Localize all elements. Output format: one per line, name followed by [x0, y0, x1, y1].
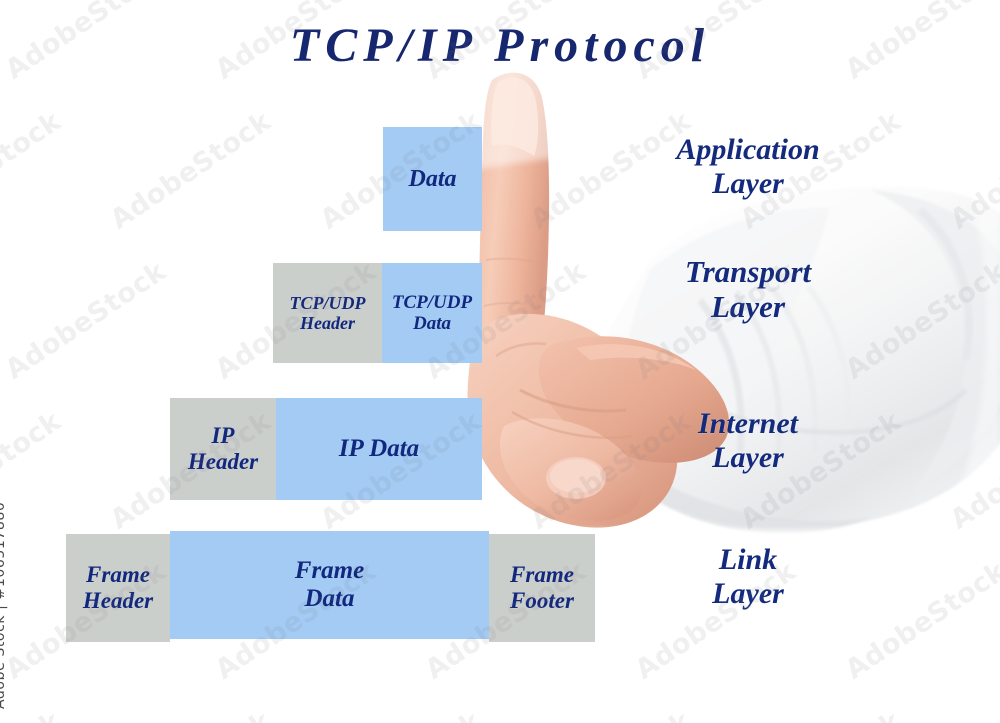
- block-tcp-udp-header: TCP/UDP Header: [273, 263, 382, 363]
- block-label: IP Header: [188, 423, 258, 475]
- tcpip-protocol-diagram: TCP/IP Protocol DataTCP/UDP HeaderTCP/UD…: [0, 0, 1000, 723]
- page-title: TCP/IP Protocol: [0, 18, 1000, 73]
- watermark-text: AdobeStock: [315, 706, 487, 723]
- watermark-text: AdobeStock: [105, 706, 277, 723]
- block-frame-footer: Frame Footer: [489, 534, 595, 642]
- layer-label-application-layer: Application Layer: [618, 133, 878, 200]
- block-label: TCP/UDP Header: [290, 293, 366, 333]
- block-frame-data: Frame Data: [170, 531, 489, 639]
- layer-label-link-layer: Link Layer: [618, 543, 878, 610]
- watermark-text: AdobeStock: [525, 706, 697, 723]
- stock-credit-text: Adobe Stock | #106517880: [0, 502, 8, 709]
- block-label: Frame Header: [83, 562, 153, 614]
- block-label: Frame Footer: [510, 562, 574, 614]
- block-label: IP Data: [339, 435, 419, 463]
- watermark-text: AdobeStock: [945, 706, 1000, 723]
- block-label: TCP/UDP Data: [392, 292, 472, 335]
- layer-label-internet-layer: Internet Layer: [618, 407, 878, 474]
- stock-credit-strip: Adobe Stock | #106517880: [0, 0, 26, 723]
- block-label: Frame Data: [295, 557, 364, 613]
- watermark-text: AdobeStock: [735, 706, 907, 723]
- block-ip-header: IP Header: [170, 398, 276, 500]
- block-data: Data: [383, 127, 482, 231]
- watermark-text: AdobeStock: [945, 106, 1000, 236]
- watermark-text: AdobeStock: [105, 106, 277, 236]
- block-ip-data: IP Data: [276, 398, 482, 500]
- watermark-text: AdobeStock: [945, 406, 1000, 536]
- block-label: Data: [409, 166, 457, 193]
- block-tcp-udp-data: TCP/UDP Data: [382, 263, 482, 363]
- block-frame-header: Frame Header: [66, 534, 170, 642]
- layer-label-transport-layer: Transport Layer: [618, 255, 878, 324]
